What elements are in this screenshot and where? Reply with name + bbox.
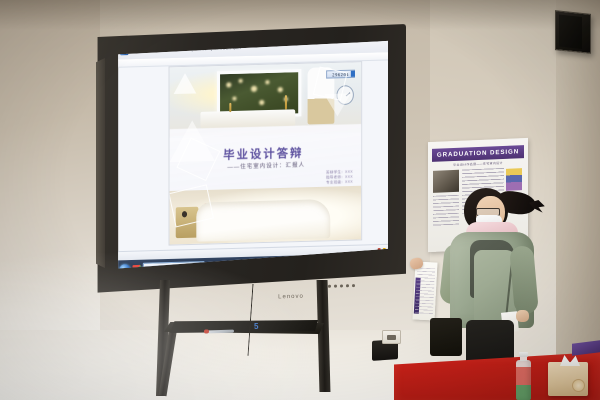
counter-tick-icon (350, 71, 354, 77)
tissue-box (548, 362, 588, 396)
power-outlet-icon (382, 330, 401, 344)
script-paper (412, 261, 437, 320)
wall-speaker-icon (555, 10, 591, 54)
board-button-3[interactable] (340, 284, 343, 287)
board-side-edge (96, 58, 105, 268)
board-button-5[interactable] (352, 284, 355, 287)
stand-leg-right (317, 280, 331, 392)
slide-canvas[interactable]: 296204 毕业设计答辩 ——住宅室内设计：汇报人 答辩学生：XXX 指导老师… (170, 62, 362, 244)
interactive-smartboard[interactable]: 毕业设计答辩 - 住宅室内设计 [兼容模式] - PowerPoint (96, 24, 406, 294)
right-arm (509, 245, 539, 315)
display-stand: 5 (150, 280, 340, 400)
bed-region (196, 199, 330, 242)
wireless-keyboard[interactable] (170, 320, 318, 333)
poster-heading: GRADUATION DESIGN (437, 148, 519, 158)
decor-triangle-1 (174, 73, 197, 94)
board-screen[interactable]: 毕业设计答辩 - 住宅室内设计 [兼容模式] - PowerPoint (116, 40, 388, 272)
bottle-body (516, 360, 531, 400)
keyboard-logo-icon: 5 (254, 322, 266, 329)
decor-triangle-6 (324, 93, 351, 116)
paper-text-lines (415, 268, 435, 315)
water-bottle (516, 352, 531, 400)
presentation-room-scene: GRADUATION DESIGN 毕业设计作品展——住宅室内设计 毕业设计答辩… (0, 0, 600, 400)
right-hand (516, 310, 529, 322)
slide-meta-line-3: 专业班级：XXX (326, 180, 353, 186)
slide-subtitle-text: ——住宅室内设计：汇报人 (227, 161, 305, 171)
poster-banner: GRADUATION DESIGN (432, 145, 524, 162)
tissue-box-emblem (572, 379, 585, 392)
dark-chair (430, 318, 462, 356)
board-button-4[interactable] (346, 284, 349, 287)
poster-subheading: 毕业设计作品展——住宅室内设计 (436, 160, 520, 168)
slide-meta-block: 答辩学生：XXX 指导老师：XXX 专业班级：XXX (326, 170, 353, 186)
